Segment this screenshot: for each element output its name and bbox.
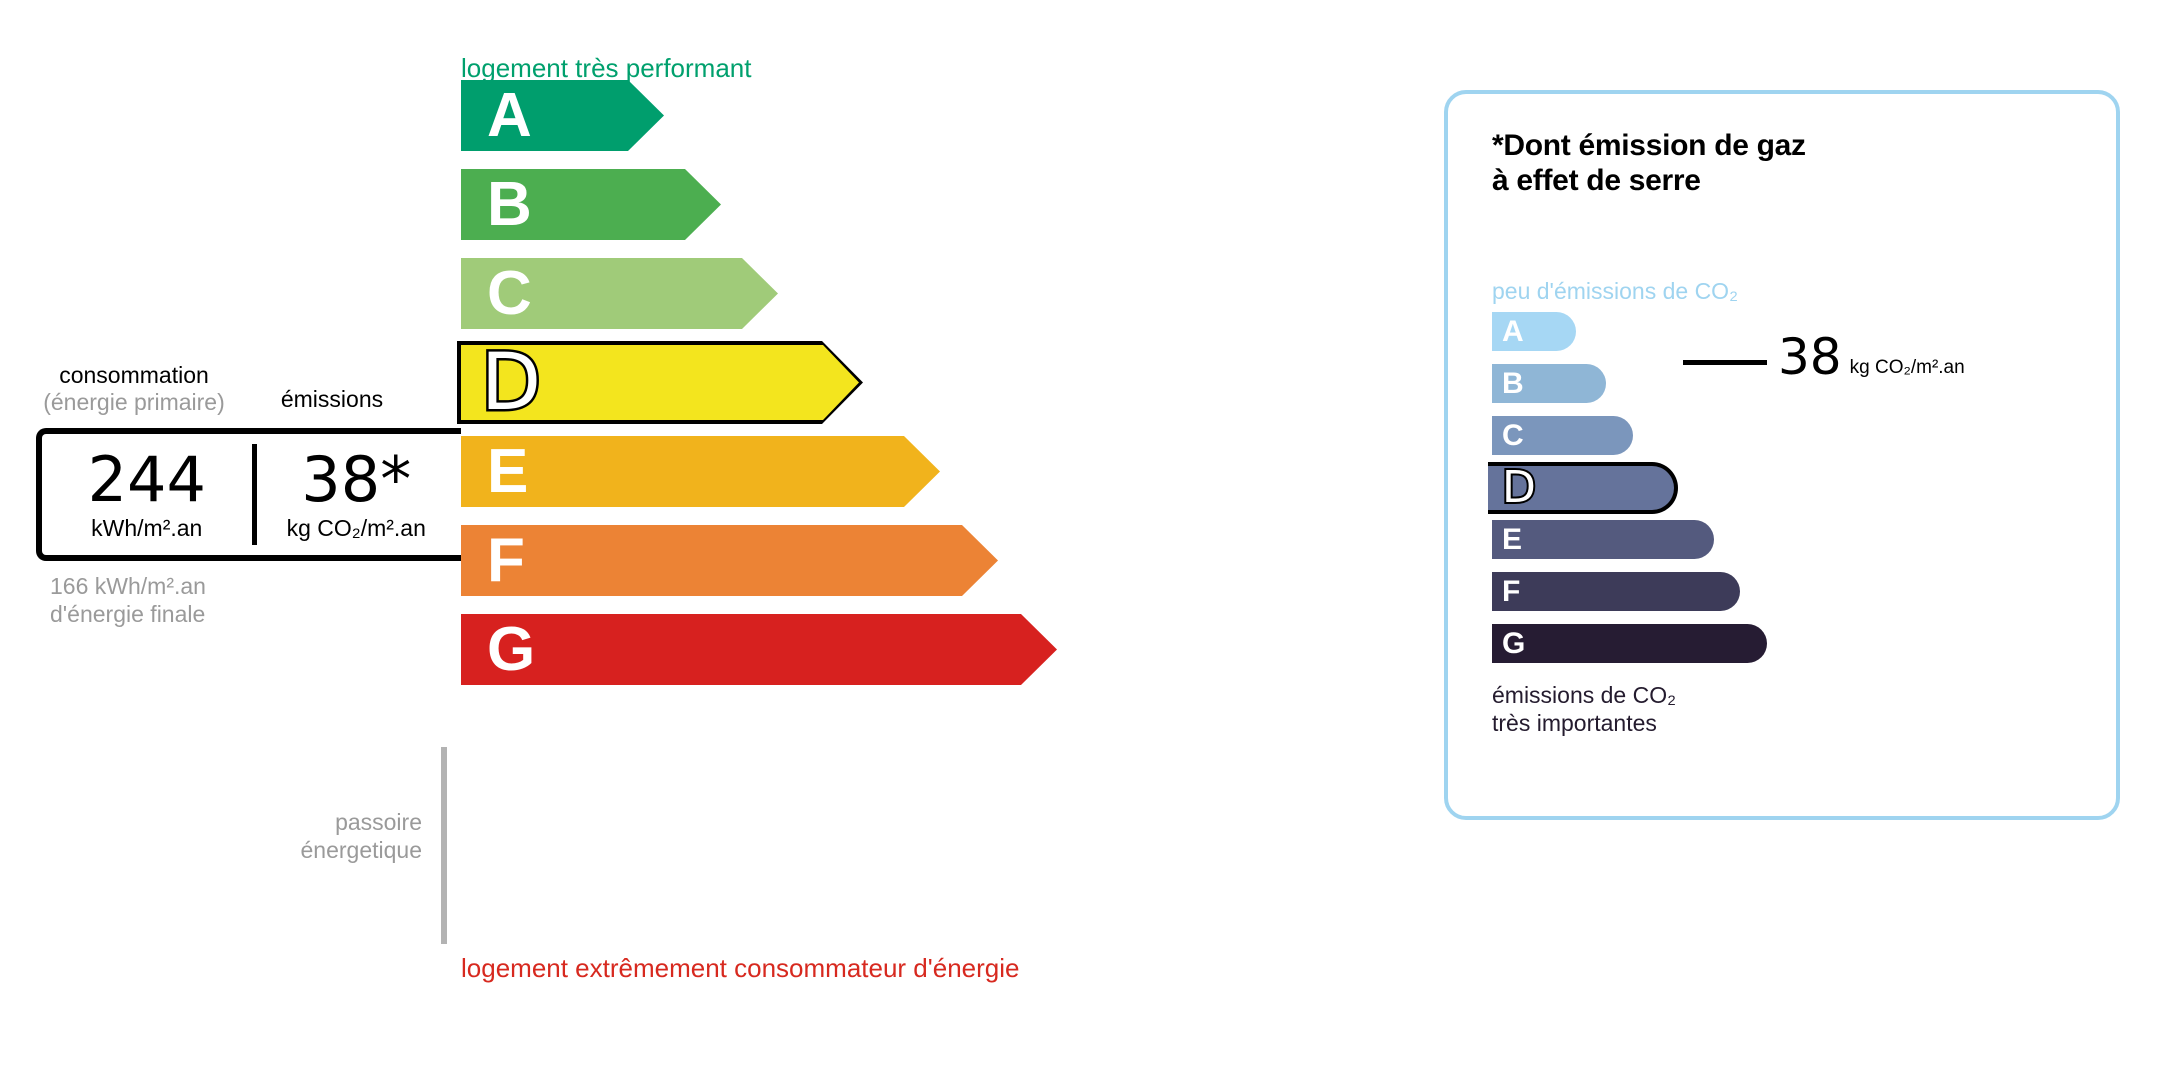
co2-bar-g-letter: G bbox=[1502, 629, 1525, 659]
energy-bar-e-letter: E bbox=[487, 441, 528, 503]
consumption-unit: kWh/m².an bbox=[91, 517, 202, 540]
energy-bar-d-letter: D bbox=[481, 344, 541, 422]
co2-bar-g: G bbox=[1492, 624, 1767, 663]
co2-bar-d: D bbox=[1488, 462, 1678, 514]
co2-scale-top-label: peu d'émissions de CO₂ bbox=[1492, 280, 1738, 303]
energy-bar-e-fill bbox=[461, 436, 940, 507]
energy-bar-f: F bbox=[461, 525, 998, 596]
emissions-value: 38* bbox=[301, 449, 411, 511]
co2-scale-bottom-label-line1: émissions de CO₂ bbox=[1492, 682, 1676, 710]
co2-scale-bottom-label-line2: très importantes bbox=[1492, 710, 1676, 738]
consumption-label: consommation (énergie primaire) bbox=[36, 362, 232, 416]
energy-bar-a-letter: A bbox=[487, 85, 532, 147]
energy-bar-c: C bbox=[461, 258, 778, 329]
energy-scale-bottom-label: logement extrêmement consommateur d'éner… bbox=[461, 955, 1019, 981]
co2-panel-title-line2: à effet de serre bbox=[1492, 163, 1806, 198]
co2-callout-leader-line bbox=[1683, 360, 1767, 365]
emissions-label: émissions bbox=[232, 386, 432, 413]
passoire-label-line2: énergetique bbox=[200, 836, 422, 864]
energy-bar-a: A bbox=[461, 80, 664, 151]
value-summary-box: 244 kWh/m².an 38* kg CO₂/m².an bbox=[36, 428, 461, 561]
energy-bar-g: G bbox=[461, 614, 1057, 685]
co2-bar-b-letter: B bbox=[1502, 369, 1524, 399]
co2-bar-c-letter: C bbox=[1502, 421, 1524, 451]
co2-bar-b: B bbox=[1492, 364, 1606, 403]
consumption-label-main: consommation bbox=[36, 362, 232, 389]
co2-bar-f: F bbox=[1492, 572, 1740, 611]
co2-bar-e: E bbox=[1492, 520, 1714, 559]
final-energy-note: 166 kWh/m².an d'énergie finale bbox=[50, 572, 206, 628]
co2-bar-a: A bbox=[1492, 312, 1576, 351]
passoire-label: passoire énergetique bbox=[200, 808, 422, 864]
energy-performance-diagram: logement très performant ABCDEFG logemen… bbox=[0, 0, 1400, 1079]
energy-bar-e: E bbox=[461, 436, 940, 507]
consumption-label-sub: (énergie primaire) bbox=[36, 389, 232, 416]
energy-bar-f-fill bbox=[461, 525, 998, 596]
co2-callout-value: 38 bbox=[1778, 332, 1842, 382]
co2-bar-e-letter: E bbox=[1502, 525, 1522, 555]
consumption-value: 244 bbox=[88, 449, 206, 511]
energy-bar-f-letter: F bbox=[487, 530, 525, 592]
energy-scale-top-label: logement très performant bbox=[461, 55, 751, 81]
co2-bar-c: C bbox=[1492, 416, 1633, 455]
co2-callout-unit: kg CO₂/m².an bbox=[1850, 358, 1965, 382]
energy-bar-d: D bbox=[461, 345, 859, 420]
energy-bar-b: B bbox=[461, 169, 721, 240]
co2-bar-f-letter: F bbox=[1502, 577, 1520, 607]
co2-bar-a-letter: A bbox=[1502, 317, 1524, 347]
co2-scale-bottom-label: émissions de CO₂ très importantes bbox=[1492, 682, 1676, 737]
final-energy-caption: d'énergie finale bbox=[50, 600, 206, 628]
co2-panel-title-line1: *Dont émission de gaz bbox=[1492, 128, 1806, 163]
final-energy-value: 166 kWh/m².an bbox=[50, 572, 206, 600]
co2-emissions-panel: *Dont émission de gaz à effet de serre p… bbox=[1444, 90, 2120, 820]
energy-bar-g-letter: G bbox=[487, 619, 535, 681]
passoire-label-line1: passoire bbox=[200, 808, 422, 836]
energy-bar-g-fill bbox=[461, 614, 1057, 685]
co2-panel-title: *Dont émission de gaz à effet de serre bbox=[1492, 128, 1806, 199]
energy-bar-b-letter: B bbox=[487, 174, 532, 236]
co2-callout: 38 kg CO₂/m².an bbox=[1778, 332, 1965, 382]
passoire-bracket bbox=[441, 747, 447, 944]
emissions-unit: kg CO₂/m².an bbox=[287, 517, 426, 540]
consumption-value-cell: 244 kWh/m².an bbox=[42, 434, 252, 555]
co2-bar-d-letter: D bbox=[1502, 466, 1536, 510]
emissions-value-cell: 38* kg CO₂/m².an bbox=[252, 434, 462, 555]
energy-bar-c-letter: C bbox=[487, 263, 532, 325]
